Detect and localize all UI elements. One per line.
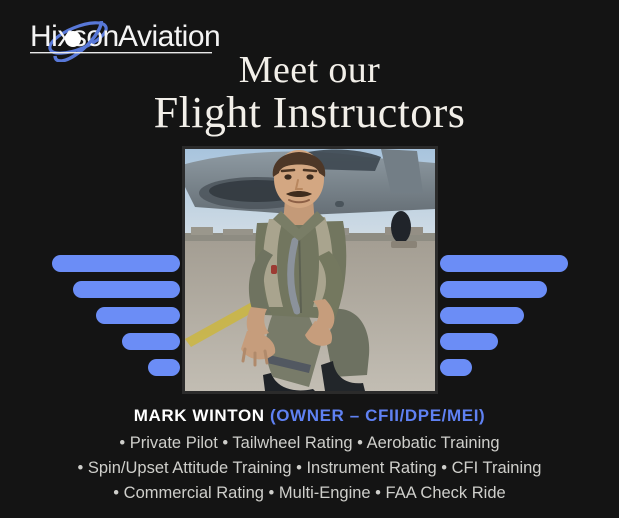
decor-bar-left-4 bbox=[122, 333, 180, 350]
decor-bar-right-4 bbox=[440, 333, 498, 350]
instructor-name: MARK WINTON bbox=[134, 406, 265, 425]
decor-bar-right-1 bbox=[440, 255, 568, 272]
decor-bar-right-3 bbox=[440, 307, 524, 324]
page-title: Meet our Flight Instructors bbox=[0, 52, 619, 134]
credential-line-1: • Private Pilot • Tailwheel Rating • Aer… bbox=[0, 431, 619, 456]
headline-line-1: Meet our bbox=[0, 52, 619, 89]
instructor-poster: Hixson Aviation Meet our Flight Instruct… bbox=[0, 0, 619, 518]
credential-line-2: • Spin/Upset Attitude Training • Instrum… bbox=[0, 456, 619, 481]
instructor-name-line: MARK WINTON (OWNER – CFII/DPE/MEI) bbox=[0, 404, 619, 428]
logo-wordmark-aviation: Aviation bbox=[118, 20, 220, 53]
decor-bar-right-5 bbox=[440, 359, 472, 376]
decor-bar-left-2 bbox=[73, 281, 180, 298]
decor-bar-left-5 bbox=[148, 359, 180, 376]
instructor-role: (OWNER – CFII/DPE/MEI) bbox=[270, 406, 485, 425]
credential-line-3: • Commercial Rating • Multi-Engine • FAA… bbox=[0, 481, 619, 506]
instructor-credentials: • Private Pilot • Tailwheel Rating • Aer… bbox=[0, 431, 619, 506]
instructor-photo bbox=[182, 146, 438, 394]
planet-icon bbox=[65, 31, 81, 47]
headline-line-2: Flight Instructors bbox=[0, 91, 619, 134]
decor-bar-left-1 bbox=[52, 255, 180, 272]
decor-bar-left-3 bbox=[96, 307, 180, 324]
instructor-caption: MARK WINTON (OWNER – CFII/DPE/MEI) • Pri… bbox=[0, 404, 619, 506]
decor-bar-right-2 bbox=[440, 281, 547, 298]
